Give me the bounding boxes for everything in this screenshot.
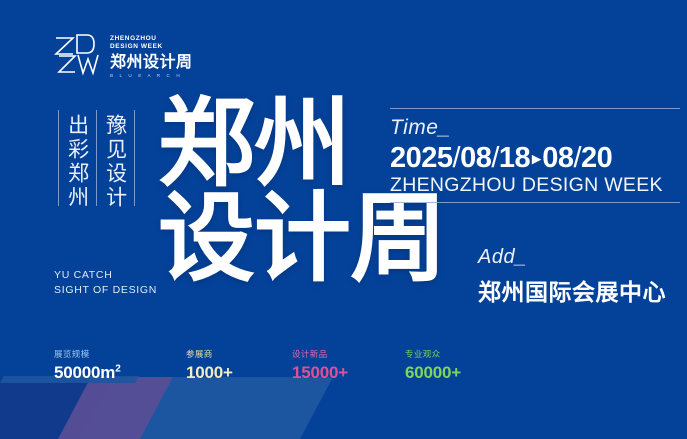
logo-english: ZHENGZHOU DESIGN WEEK [110, 35, 193, 52]
stat-item: 专业观众 60000+ [405, 348, 500, 383]
stat-item: 设计新品 15000+ [292, 348, 377, 383]
date-range-arrow-icon: ▸ [530, 149, 542, 168]
slogan-vertical-left: 出彩郑州 [64, 114, 90, 210]
slogan-english: YU CATCH SIGHT OF DESIGN [54, 268, 157, 298]
slogan-rule-right [134, 110, 135, 206]
stat-item: 参展商 1000+ [186, 348, 264, 383]
stat-value: 50000m2 [54, 363, 158, 383]
brand-logo: ZHENGZHOU DESIGN WEEK 郑州设计周 B L U E A R … [53, 32, 193, 78]
slogan-rule-left [58, 110, 59, 206]
stat-number: 1000 [186, 363, 223, 382]
slogan-rule-middle [96, 110, 97, 206]
date-sep-3: / [573, 142, 581, 174]
date-day-start: 18 [499, 142, 530, 174]
stat-label: 展览规模 [54, 348, 158, 360]
deco-parallelogram-navy [0, 377, 113, 439]
date-sep-2: / [491, 142, 499, 174]
stat-number: 60000 [405, 363, 451, 382]
stat-label: 设计新品 [292, 348, 377, 360]
info-rule-bottom [390, 202, 680, 203]
date-sep-1: / [453, 142, 461, 174]
logo-chinese: 郑州设计周 [110, 54, 193, 71]
date-year: 2025 [390, 142, 453, 174]
stat-suffix: + [223, 363, 233, 382]
venue-name: 郑州国际会展中心 [478, 273, 687, 307]
date-day-end: 20 [581, 142, 612, 174]
stat-value: 60000+ [405, 363, 500, 383]
date-month-start: 08 [460, 142, 491, 174]
stat-superscript: 2 [115, 363, 120, 374]
stat-label: 参展商 [186, 348, 264, 360]
event-date: 2025/08/18▸08/20 [390, 142, 680, 175]
logo-subtitle: B L U E A R C H [110, 73, 193, 78]
stat-suffix: + [338, 363, 348, 382]
deco-parallelogram-purple [58, 377, 201, 439]
date-month-end: 08 [542, 142, 573, 174]
zdw-monogram-icon [53, 32, 101, 76]
event-time-block: Time_ 2025/08/18▸08/20 ZHENGZHOU DESIGN … [390, 108, 680, 203]
stat-value: 15000+ [292, 363, 377, 383]
stat-number: 15000 [292, 363, 338, 382]
stat-value: 1000+ [186, 363, 264, 383]
event-poster: ZHENGZHOU DESIGN WEEK 郑州设计周 B L U E A R … [0, 0, 687, 439]
stat-label: 专业观众 [405, 348, 500, 360]
stat-suffix: + [451, 363, 461, 382]
time-label: Time_ [390, 116, 680, 140]
event-address-block: Add_ 郑州国际会展中心 [478, 246, 687, 307]
address-label: Add_ [478, 246, 687, 269]
deco-parallelogram-blue [140, 377, 333, 439]
info-rule-top [390, 108, 680, 109]
event-name-english: ZHENGZHOU DESIGN WEEK [390, 174, 680, 197]
stat-number: 50000m [54, 363, 115, 382]
slogan-vertical-right: 豫见设计 [102, 114, 128, 210]
stats-row: 展览规模 50000m2 参展商 1000+ 设计新品 15000+ 专业观众 … [54, 348, 528, 383]
stat-item: 展览规模 50000m2 [54, 348, 158, 383]
